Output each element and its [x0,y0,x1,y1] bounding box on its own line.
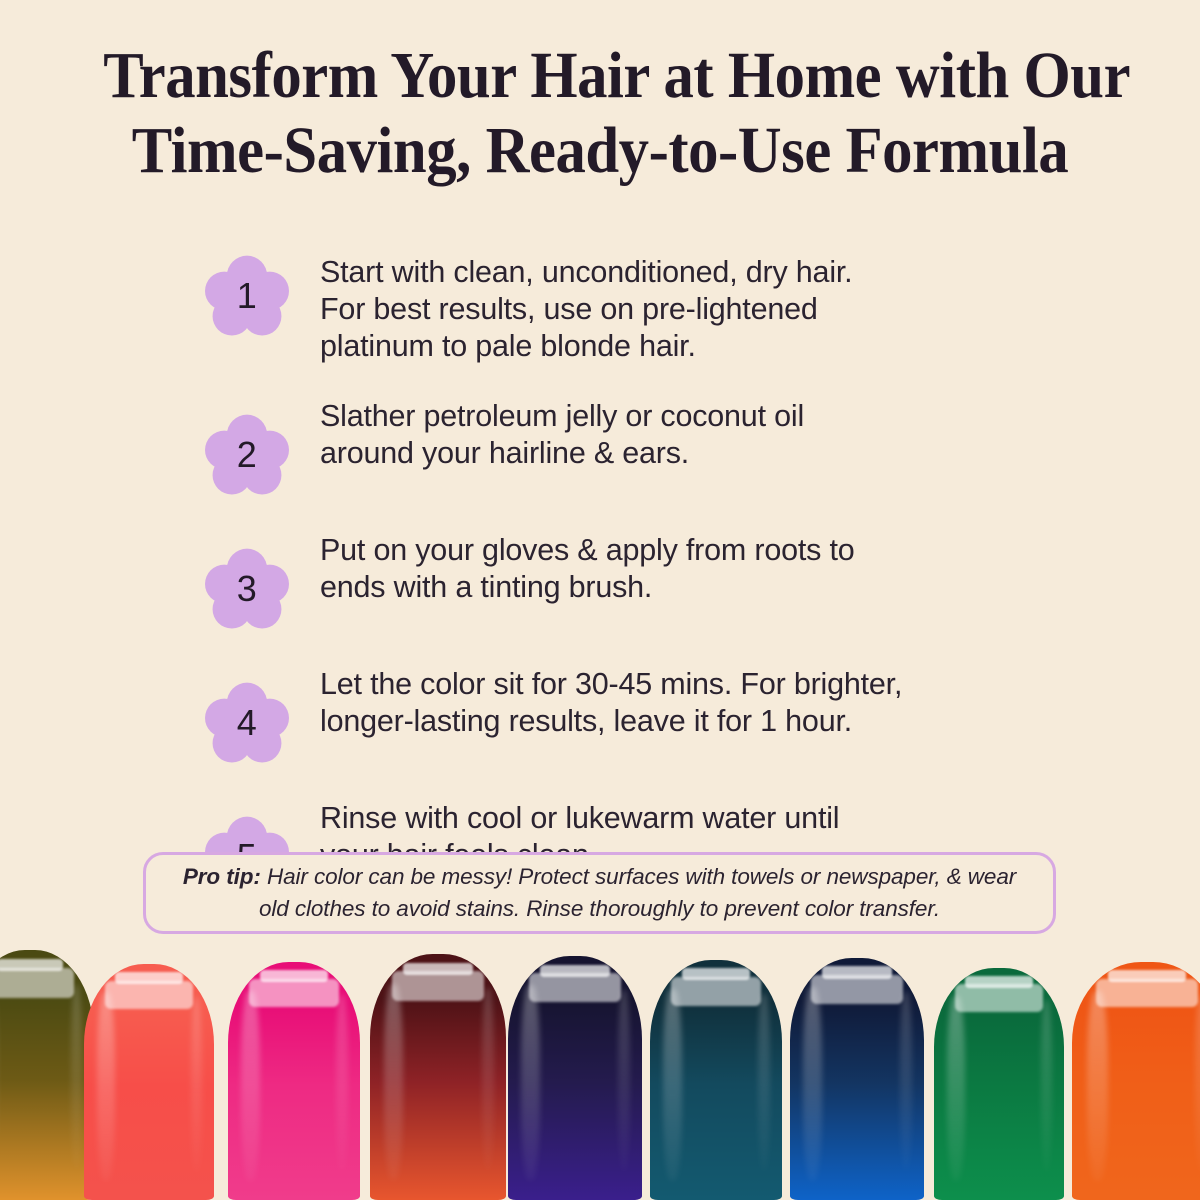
step-item-4: 4 Let the color sit for 30-45 mins. For … [205,661,1075,765]
tube-highlight [1041,1000,1053,1172]
olive-amber-tube [0,950,94,1200]
step-badge-3: 3 [205,547,289,631]
tube-highlight [618,990,630,1171]
tube-cap-highlight [403,963,474,975]
tube-cap-highlight [822,966,892,978]
emerald-green-tube [934,968,1064,1200]
tube-cap-highlight [0,959,63,972]
step-number-4: 4 [205,681,289,765]
step-text-3: Put on your gloves & apply from roots to… [320,527,855,606]
page-title: Transform Your Hair at Home with Our Tim… [103,38,1097,188]
coral-red-tube [84,964,214,1200]
infographic-page: Transform Your Hair at Home with Our Tim… [0,0,1200,1200]
tube-cap-highlight [115,972,183,984]
step-item-2: 2 Slather petroleum jelly or coconut oil… [205,393,1075,497]
pro-tip-callout: Pro tip: Hair color can be messy! Protec… [143,852,1056,934]
orange-tube [1072,962,1200,1200]
tube-highlight [1195,995,1200,1171]
tube-cap-highlight [682,968,751,980]
tube-highlight [758,994,770,1172]
steps-list: 1 Start with clean, unconditioned, dry h… [205,252,1075,929]
tube-highlight [336,995,348,1171]
teal-blue-tube [650,960,782,1200]
burgundy-red-tube [370,954,506,1200]
hot-pink-tube [228,962,360,1200]
page-title-line-2: Time-Saving, Ready-to-Use Formula [103,113,1097,188]
step-text-1: Start with clean, unconditioned, dry hai… [320,252,852,366]
tube-highlight [900,992,912,1171]
step-badge-1: 1 [205,254,289,338]
royal-blue-tube [790,958,924,1200]
pro-tip-body: Hair color can be messy! Protect surface… [259,864,1016,921]
tube-cap-highlight [965,976,1033,988]
tube-highlight [482,988,494,1170]
indigo-violet-tube [508,956,642,1200]
tube-cap-highlight [540,965,610,977]
page-title-line-1: Transform Your Hair at Home with Our [103,38,1097,113]
tube-highlight [191,997,203,1172]
pro-tip-text: Pro tip: Hair color can be messy! Protec… [146,861,1053,925]
step-text-2: Slather petroleum jelly or coconut oil a… [320,393,804,472]
step-item-3: 3 Put on your gloves & apply from roots … [205,527,1075,631]
step-number-3: 3 [205,547,289,631]
step-text-4: Let the color sit for 30-45 mins. For br… [320,661,902,740]
step-number-2: 2 [205,413,289,497]
product-strip [0,938,1200,1200]
step-badge-2: 2 [205,413,289,497]
step-badge-4: 4 [205,681,289,765]
pro-tip-label: Pro tip: [183,864,261,889]
step-item-1: 1 Start with clean, unconditioned, dry h… [205,252,1075,366]
tube-cap-highlight [260,970,329,982]
step-number-1: 1 [205,254,289,338]
tube-highlight [71,985,83,1170]
tube-cap-highlight [1108,970,1186,982]
